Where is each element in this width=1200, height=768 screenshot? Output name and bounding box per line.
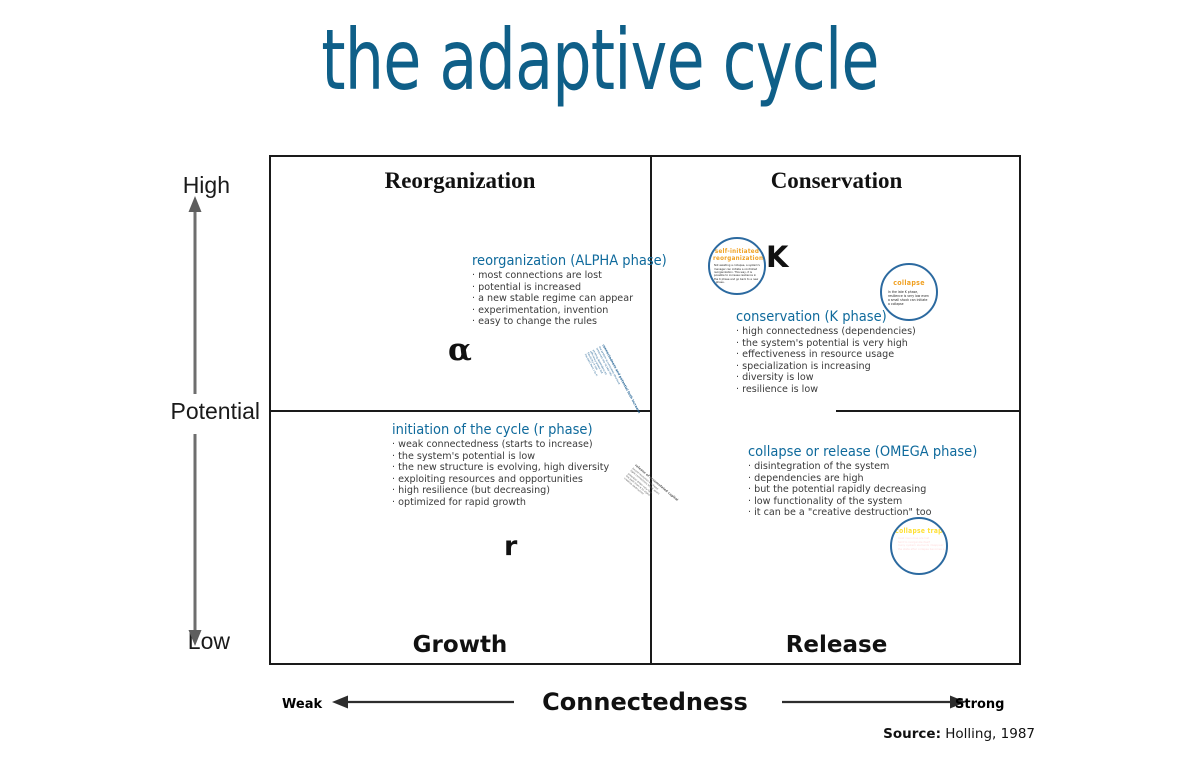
list-item: experimentation, invention [472,305,667,317]
axis-label-weak: Weak [282,697,342,712]
annotation-bubble-collapse: collapse In the late K phase, resilience… [880,263,938,321]
list-item: specialization is increasing [736,361,916,373]
bubble-heading: collapse trap [892,527,946,535]
phase-block-alpha: reorganization (ALPHA phase) most connec… [472,253,667,328]
ribbon-glyph-k: K [766,240,788,274]
list-item: it can be a "creative destruction" too [748,507,977,519]
list-item: resilience is low [736,384,916,396]
ribbon-glyph-alpha: α [448,332,472,368]
list-item: the state after collapse becomes a stabl… [896,548,942,552]
bubble-heading: collapse [882,279,936,287]
phase-heading-r: initiation of the cycle (r phase) [392,422,609,438]
phase-block-r: initiation of the cycle (r phase) weak c… [392,422,609,509]
list-item: the new structure is evolving, high dive… [392,462,609,474]
list-item: high connectedness (dependencies) [736,326,916,338]
quadrant-divider-horizontal-right [836,410,1021,412]
axis-label-connectedness: Connectedness [520,688,770,716]
list-item: diversity is low [736,372,916,384]
list-item: optimized for rapid growth [392,497,609,509]
phase-block-k: conservation (K phase) high connectednes… [736,309,916,396]
phase-heading-omega: collapse or release (OMEGA phase) [748,444,977,460]
phase-block-omega: collapse or release (OMEGA phase) disint… [748,444,977,519]
list-item: disintegration of the system [748,461,977,473]
ribbon-glyph-omega: Ω [841,549,867,583]
phase-bullets-r: weak connectedness (starts to increase) … [392,439,609,509]
phase-bullets-omega: disintegration of the system dependencie… [748,461,977,519]
axis-label-high: High [130,172,230,199]
list-item: a new stable regime can appear [472,293,667,305]
axis-label-strong: Strong [955,697,1035,712]
phase-bullets-alpha: most connections are lost potential is i… [472,270,667,328]
list-item: dependencies are high [748,473,977,485]
list-item: effectiveness in resource usage [736,349,916,361]
source-credit: Source: Holling, 1987 [700,726,1035,742]
list-item: high resilience (but decreasing) [392,485,609,497]
list-item: most connections are lost [472,270,667,282]
list-item: the system's potential is very high [736,338,916,350]
list-item: easy to change the rules [472,316,667,328]
annotation-bubble-collapse-trap: collapse trap most resources are lost ha… [890,517,948,575]
list-item: but the potential rapidly decreasing [748,484,977,496]
bubble-body: Not awaiting a collapse, a system's mana… [714,264,760,284]
list-item: potential is increased [472,282,667,294]
bubble-bullets: most resources are lost hard to reorgani… [896,537,942,551]
quadrant-label-growth: Growth [269,632,651,658]
phase-bullets-k: high connectedness (dependencies) the sy… [736,326,916,396]
bubble-heading: self-initiated reorganization [713,248,761,262]
source-label: Source: [883,726,941,742]
bubble-body: In the late K phase, resilience is very … [888,290,930,306]
phase-heading-alpha: reorganization (ALPHA phase) [472,253,667,269]
annotation-bubble-self-initiated-reorganization: self-initiated reorganization Not awaiti… [708,237,766,295]
quadrant-label-reorganization: Reorganization [269,168,651,194]
source-value: Holling, 1987 [945,726,1035,742]
list-item: weak connectedness (starts to increase) [392,439,609,451]
quadrant-divider-horizontal-left [269,410,651,412]
quadrant-label-conservation: Conservation [652,168,1021,194]
quadrant-label-release: Release [652,632,1021,658]
vertical-axis-arrows [173,196,217,646]
list-item: low functionality of the system [748,496,977,508]
list-item: exploiting resources and opportunities [392,474,609,486]
ribbon-glyph-r: r [504,531,517,562]
list-item: the system's potential is low [392,451,609,463]
